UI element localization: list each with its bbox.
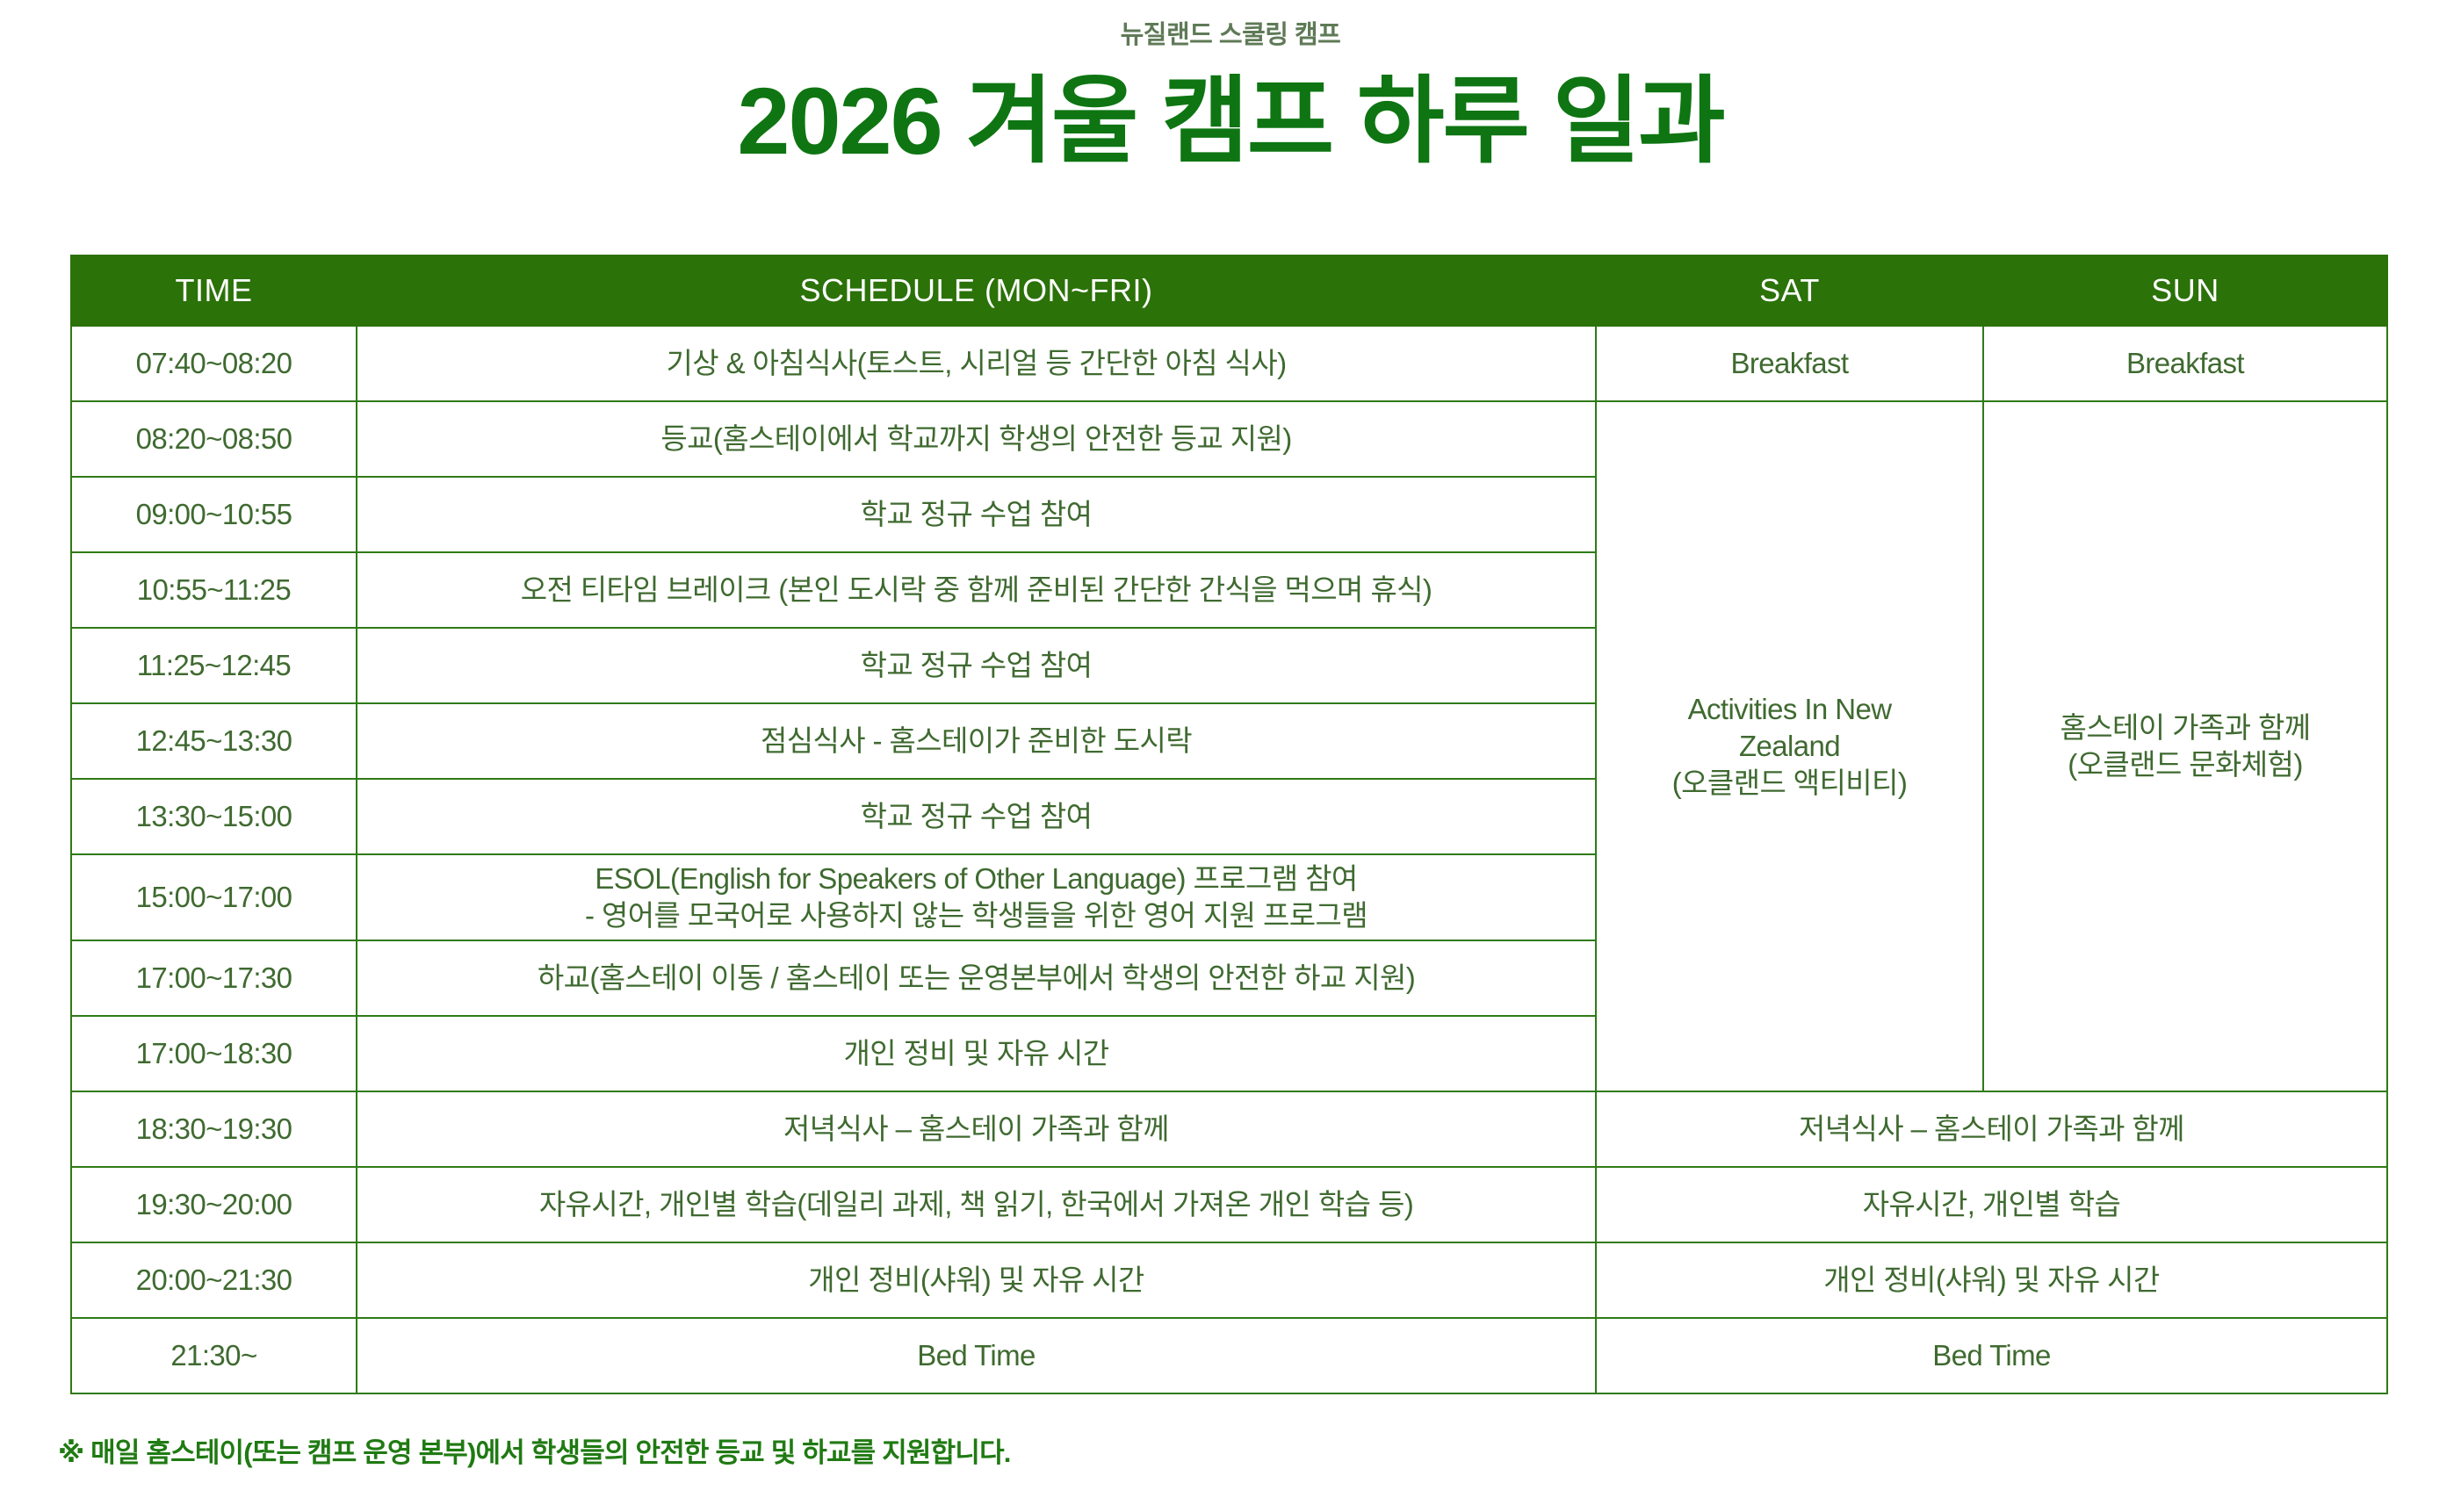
time-cell: 15:00~17:00 (71, 854, 357, 940)
time-cell: 09:00~10:55 (71, 477, 357, 552)
table-row: 20:00~21:30 개인 정비(샤워) 및 자유 시간 개인 정비(샤워) … (71, 1242, 2387, 1318)
schedule-cell-esol: ESOL(English for Speakers of Other Langu… (357, 854, 1596, 940)
column-header-sun: SUN (1983, 256, 2387, 326)
schedule-cell: 기상 & 아침식사(토스트, 시리얼 등 간단한 아침 식사) (357, 326, 1596, 401)
footnote-text: ※ 매일 홈스테이(또는 캠프 운영 본부)에서 학생들의 안전한 등교 및 하… (58, 1430, 1011, 1470)
time-cell: 12:45~13:30 (71, 703, 357, 779)
daily-schedule-table: TIME SCHEDULE (MON~FRI) SAT SUN 07:40~08… (70, 255, 2388, 1394)
page-subtitle: 뉴질랜드 스쿨링 캠프 (0, 14, 2461, 51)
schedule-cell: 오전 티타임 브레이크 (본인 도시락 중 함께 준비된 간단한 간식을 먹으며… (357, 552, 1596, 628)
table-header-row: TIME SCHEDULE (MON~FRI) SAT SUN (71, 256, 2387, 326)
sat-cell-breakfast: Breakfast (1596, 326, 1983, 401)
sun-cell-breakfast: Breakfast (1983, 326, 2387, 401)
page-title: 2026 겨울 캠프 하루 일과 (0, 74, 2461, 169)
schedule-cell: Bed Time (357, 1318, 1596, 1393)
table-row: 18:30~19:30 저녁식사 – 홈스테이 가족과 함께 저녁식사 – 홈스… (71, 1091, 2387, 1167)
schedule-cell: 학교 정규 수업 참여 (357, 628, 1596, 703)
sat-line-1: Activities In New (1606, 691, 1974, 728)
schedule-cell: 자유시간, 개인별 학습(데일리 과제, 책 읽기, 한국에서 가져온 개인 학… (357, 1167, 1596, 1242)
time-cell: 10:55~11:25 (71, 552, 357, 628)
time-cell: 08:20~08:50 (71, 401, 357, 477)
column-header-time: TIME (71, 256, 357, 326)
schedule-cell: 개인 정비(샤워) 및 자유 시간 (357, 1242, 1596, 1318)
sun-line-2: (오클랜드 문화체험) (1993, 746, 2378, 783)
time-cell: 18:30~19:30 (71, 1091, 357, 1167)
sat-line-3: (오클랜드 액티비티) (1606, 765, 1974, 802)
table-row: 19:30~20:00 자유시간, 개인별 학습(데일리 과제, 책 읽기, 한… (71, 1167, 2387, 1242)
column-header-sat: SAT (1596, 256, 1983, 326)
time-cell: 13:30~15:00 (71, 779, 357, 854)
sun-cell-homestay: 홈스테이 가족과 함께 (오클랜드 문화체험) (1983, 401, 2387, 1091)
table-body: 07:40~08:20 기상 & 아침식사(토스트, 시리얼 등 간단한 아침 … (71, 326, 2387, 1393)
weekend-cell: 개인 정비(샤워) 및 자유 시간 (1596, 1242, 2387, 1318)
weekend-cell: 저녁식사 – 홈스테이 가족과 함께 (1596, 1091, 2387, 1167)
esol-line-1: ESOL(English for Speakers of Other Langu… (366, 860, 1586, 897)
sun-line-1: 홈스테이 가족과 함께 (1993, 709, 2378, 746)
time-cell: 19:30~20:00 (71, 1167, 357, 1242)
table-row: 07:40~08:20 기상 & 아침식사(토스트, 시리얼 등 간단한 아침 … (71, 326, 2387, 401)
table-head: TIME SCHEDULE (MON~FRI) SAT SUN (71, 256, 2387, 326)
schedule-cell: 학교 정규 수업 참여 (357, 477, 1596, 552)
column-header-schedule: SCHEDULE (MON~FRI) (357, 256, 1596, 326)
schedule-table-wrapper: TIME SCHEDULE (MON~FRI) SAT SUN 07:40~08… (70, 255, 2386, 1394)
time-cell: 20:00~21:30 (71, 1242, 357, 1318)
schedule-cell: 학교 정규 수업 참여 (357, 779, 1596, 854)
weekend-cell: Bed Time (1596, 1318, 2387, 1393)
time-cell: 07:40~08:20 (71, 326, 357, 401)
schedule-cell: 점심식사 - 홈스테이가 준비한 도시락 (357, 703, 1596, 779)
schedule-cell: 개인 정비 및 자유 시간 (357, 1016, 1596, 1091)
schedule-cell: 하교(홈스테이 이동 / 홈스테이 또는 운영본부에서 학생의 안전한 하교 지… (357, 940, 1596, 1016)
sat-line-2: Zealand (1606, 728, 1974, 765)
table-row: 08:20~08:50 등교(홈스테이에서 학교까지 학생의 안전한 등교 지원… (71, 401, 2387, 477)
schedule-cell: 등교(홈스테이에서 학교까지 학생의 안전한 등교 지원) (357, 401, 1596, 477)
time-cell: 17:00~18:30 (71, 1016, 357, 1091)
time-cell: 17:00~17:30 (71, 940, 357, 1016)
schedule-cell: 저녁식사 – 홈스테이 가족과 함께 (357, 1091, 1596, 1167)
schedule-page: 뉴질랜드 스쿨링 캠프 2026 겨울 캠프 하루 일과 TIME SCHEDU… (0, 0, 2461, 1512)
time-cell: 21:30~ (71, 1318, 357, 1393)
time-cell: 11:25~12:45 (71, 628, 357, 703)
table-row: 21:30~ Bed Time Bed Time (71, 1318, 2387, 1393)
weekend-cell: 자유시간, 개인별 학습 (1596, 1167, 2387, 1242)
esol-line-2: - 영어를 모국어로 사용하지 않는 학생들을 위한 영어 지원 프로그램 (366, 897, 1586, 934)
sat-cell-activities: Activities In New Zealand (오클랜드 액티비티) (1596, 401, 1983, 1091)
